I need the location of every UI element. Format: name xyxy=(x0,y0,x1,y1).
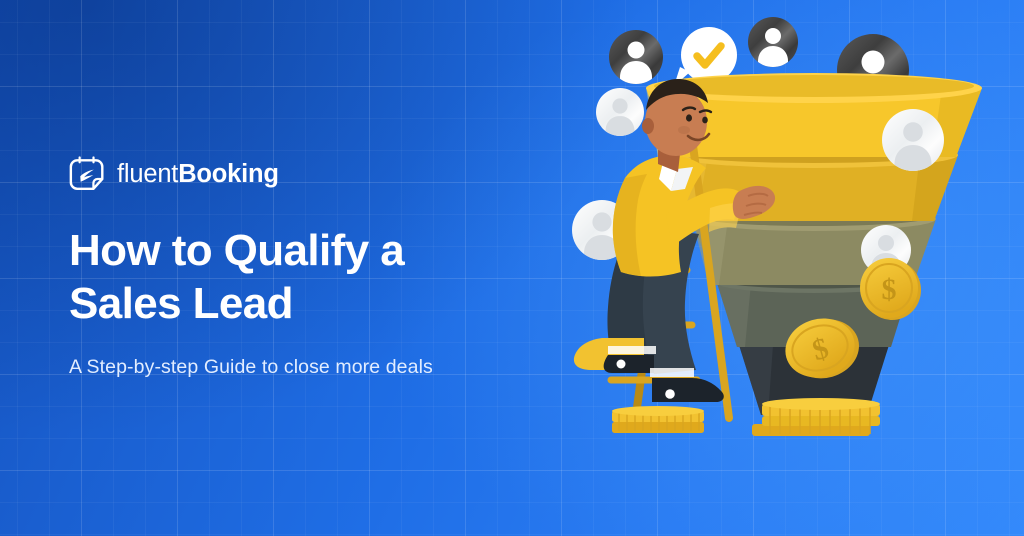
shoe-front xyxy=(652,378,724,402)
avatar-2 xyxy=(748,17,798,72)
page-subtitle: A Step-by-step Guide to close more deals xyxy=(69,354,589,380)
promo-banner: fluentBooking How to Qualify a Sales Lea… xyxy=(0,0,1024,536)
brand-logo-text-bold: Booking xyxy=(178,160,279,188)
coin-stack-left xyxy=(612,406,704,433)
sales-funnel-illustration: $ $ xyxy=(524,0,1024,536)
brand-logo-text: fluentBooking xyxy=(117,162,279,188)
brand-logo-text-light: fluent xyxy=(117,160,178,188)
dollar-sign-icon: $ xyxy=(882,273,897,306)
page-title-line-2: Sales Lead xyxy=(69,278,509,331)
brand-logo: fluentBooking xyxy=(69,156,589,194)
page-title-line-1: How to Qualify a xyxy=(69,225,509,278)
coin-stack-right xyxy=(752,398,880,436)
avatar-1 xyxy=(609,30,663,89)
banner-content: fluentBooking How to Qualify a Sales Lea… xyxy=(69,0,589,536)
illustration-canvas: $ $ xyxy=(524,0,1024,536)
avatar-8 xyxy=(596,88,644,141)
fluentbooking-calendar-icon xyxy=(69,156,106,194)
page-title: How to Qualify a Sales Lead xyxy=(69,225,509,331)
